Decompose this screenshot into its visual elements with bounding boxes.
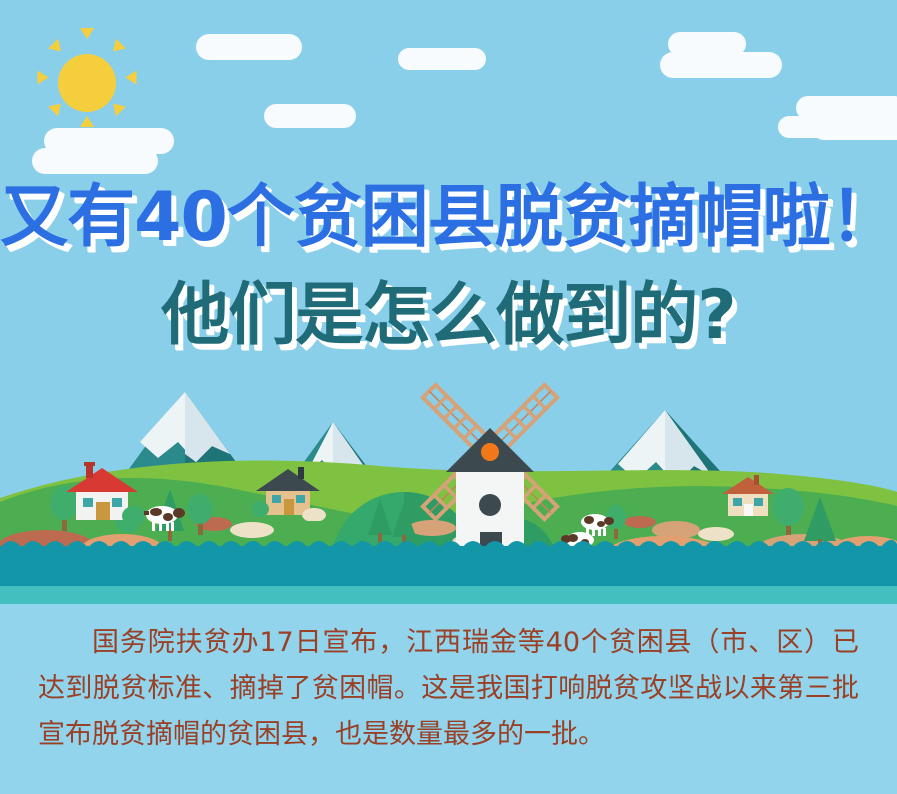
infographic-poster: 又有40个贫困县脱贫摘帽啦！ 他们是怎么做到的? 国务院扶贫办17日宣布，江西瑞… — [0, 0, 897, 794]
sun-ray — [48, 39, 66, 57]
body-paragraph-block: 国务院扶贫办17日宣布，江西瑞金等40个贫困县（市、区）已达到脱贫标准、摘掉了贫… — [0, 620, 897, 758]
sun-ray — [126, 71, 137, 85]
body-paragraph: 国务院扶贫办17日宣布，江西瑞金等40个贫困县（市、区）已达到脱贫标准、摘掉了贫… — [38, 620, 859, 758]
sun-disc — [58, 54, 116, 112]
sun-ray — [108, 99, 126, 117]
headline: 又有40个贫困县脱贫摘帽啦！ 他们是怎么做到的? — [0, 176, 897, 358]
sun-ray — [80, 28, 94, 39]
water-dark-band — [0, 546, 897, 586]
sun-ray — [38, 71, 49, 85]
cow — [140, 503, 186, 533]
cottage-dark-roof — [252, 465, 328, 521]
cottage-tan — [718, 474, 780, 522]
sun-ray — [80, 116, 94, 127]
water-mid-band — [0, 586, 897, 604]
sun-ray — [108, 39, 126, 57]
headline-line-1: 又有40个贫困县脱贫摘帽啦！ — [0, 176, 897, 260]
headline-line-2: 他们是怎么做到的? — [0, 274, 897, 358]
cottage-red-roof — [62, 462, 144, 526]
sun-icon — [32, 28, 142, 138]
sun-ray — [48, 99, 66, 117]
